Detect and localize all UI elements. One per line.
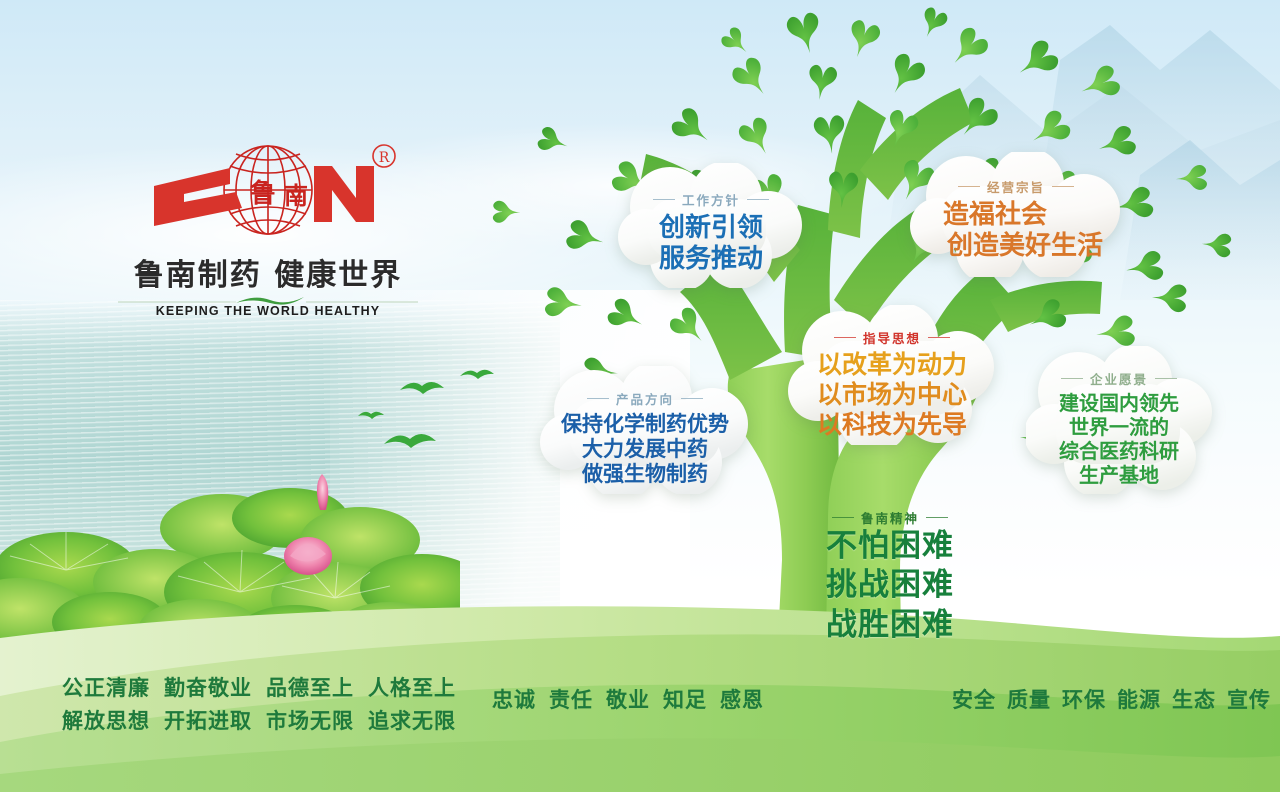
lunan-logo-icon: 鲁 南 R <box>118 140 418 244</box>
value-item: 知足 <box>663 684 707 714</box>
registered-mark-icon: R <box>373 145 395 167</box>
value-item: 感恩 <box>720 684 764 714</box>
bubble-line-1: 保持化学制药优势 <box>538 412 752 437</box>
bubble-line-2: 大力发展中药 <box>538 437 752 462</box>
brand-logo-block: 鲁 南 R 鲁南制药 健康世界 KEEPING THE WORLD HEALTH… <box>118 140 418 318</box>
value-item: 追求无限 <box>368 705 456 738</box>
value-item: 勤奋敬业 <box>164 672 252 705</box>
value-item: 解放思想 <box>62 705 150 738</box>
value-item: 公正清廉 <box>62 672 150 705</box>
bubble-line-2: 服务推动 <box>618 244 804 275</box>
value-item: 安全 <box>952 684 996 714</box>
bubble-line-3: 做强生物制药 <box>538 462 752 487</box>
bubble-guiding-ideology: 指导思想 以改革为动力 以市场为中心 以科技为先导 <box>788 305 996 445</box>
bubble-business-purpose: 经营宗旨 造福社会 创造美好生活 <box>908 152 1124 277</box>
brand-swoosh-icon <box>118 292 418 302</box>
bubble-label: 指导思想 <box>834 328 950 347</box>
svg-text:鲁: 鲁 <box>250 179 276 209</box>
value-item: 市场无限 <box>266 705 354 738</box>
bubble-label: 经营宗旨 <box>958 177 1074 196</box>
value-item: 宣传 <box>1227 684 1271 714</box>
bubble-line-2: 以市场为中心 <box>788 380 996 410</box>
bottom-values-center: 忠诚责任敬业知足感恩 <box>492 684 777 714</box>
trunk-label: 鲁南精神 <box>832 508 948 527</box>
value-item: 开拓进取 <box>164 705 252 738</box>
brand-title: 鲁南制药 健康世界 <box>118 250 418 294</box>
value-item: 环保 <box>1062 684 1106 714</box>
bubble-product-direction: 产品方向 保持化学制药优势 大力发展中药 做强生物制药 <box>538 366 752 494</box>
culture-wall-poster: 鲁 南 R 鲁南制药 健康世界 KEEPING THE WORLD HEALTH… <box>0 0 1280 792</box>
bottom-values-left-row2: 解放思想开拓进取市场无限追求无限 <box>62 705 470 738</box>
value-item: 人格至上 <box>368 672 456 705</box>
bubble-line-4: 生产基地 <box>1026 463 1212 487</box>
value-item: 品德至上 <box>266 672 354 705</box>
bubble-line-1: 建设国内领先 <box>1026 391 1212 415</box>
svg-text:R: R <box>379 150 390 166</box>
bottom-values-left: 公正清廉勤奋敬业品德至上人格至上 解放思想开拓进取市场无限追求无限 <box>62 672 470 737</box>
bubble-label: 产品方向 <box>587 389 703 408</box>
bottom-values-left-row1: 公正清廉勤奋敬业品德至上人格至上 <box>62 672 470 705</box>
bottom-values-right: 安全质量环保能源生态宣传 <box>952 684 1280 714</box>
value-item: 责任 <box>549 684 593 714</box>
bubble-line-1: 造福社会 <box>908 200 1082 231</box>
value-item: 能源 <box>1117 684 1161 714</box>
trunk-line-1: 不怕困难 <box>780 527 1000 567</box>
bubble-line-2: 世界一流的 <box>1026 415 1212 439</box>
bubble-line-3: 以科技为先导 <box>788 410 996 440</box>
trunk-line-2: 挑战困难 <box>780 566 1000 606</box>
value-item: 敬业 <box>606 684 650 714</box>
bubble-line-1: 创新引领 <box>618 213 804 244</box>
value-item: 生态 <box>1172 684 1216 714</box>
bubble-corporate-vision: 企业愿景 建设国内领先 世界一流的 综合医药科研 生产基地 <box>1026 346 1212 494</box>
bubble-line-1: 以改革为动力 <box>788 350 996 380</box>
bubble-label: 企业愿景 <box>1061 369 1177 388</box>
bubble-line-3: 综合医药科研 <box>1026 439 1212 463</box>
trunk-spirit-block: 鲁南精神 不怕困难 挑战困难 战胜困难 <box>780 505 1000 646</box>
bubble-label: 工作方针 <box>653 190 769 209</box>
value-item: 质量 <box>1007 684 1051 714</box>
value-item: 忠诚 <box>492 684 536 714</box>
brand-subtitle: KEEPING THE WORLD HEALTHY <box>118 304 418 318</box>
bubble-work-policy: 工作方针 创新引领 服务推动 <box>618 163 804 288</box>
bubble-line-2: 创造美好生活 <box>926 231 1124 262</box>
svg-text:南: 南 <box>284 182 308 210</box>
trunk-line-3: 战胜困难 <box>780 606 1000 646</box>
